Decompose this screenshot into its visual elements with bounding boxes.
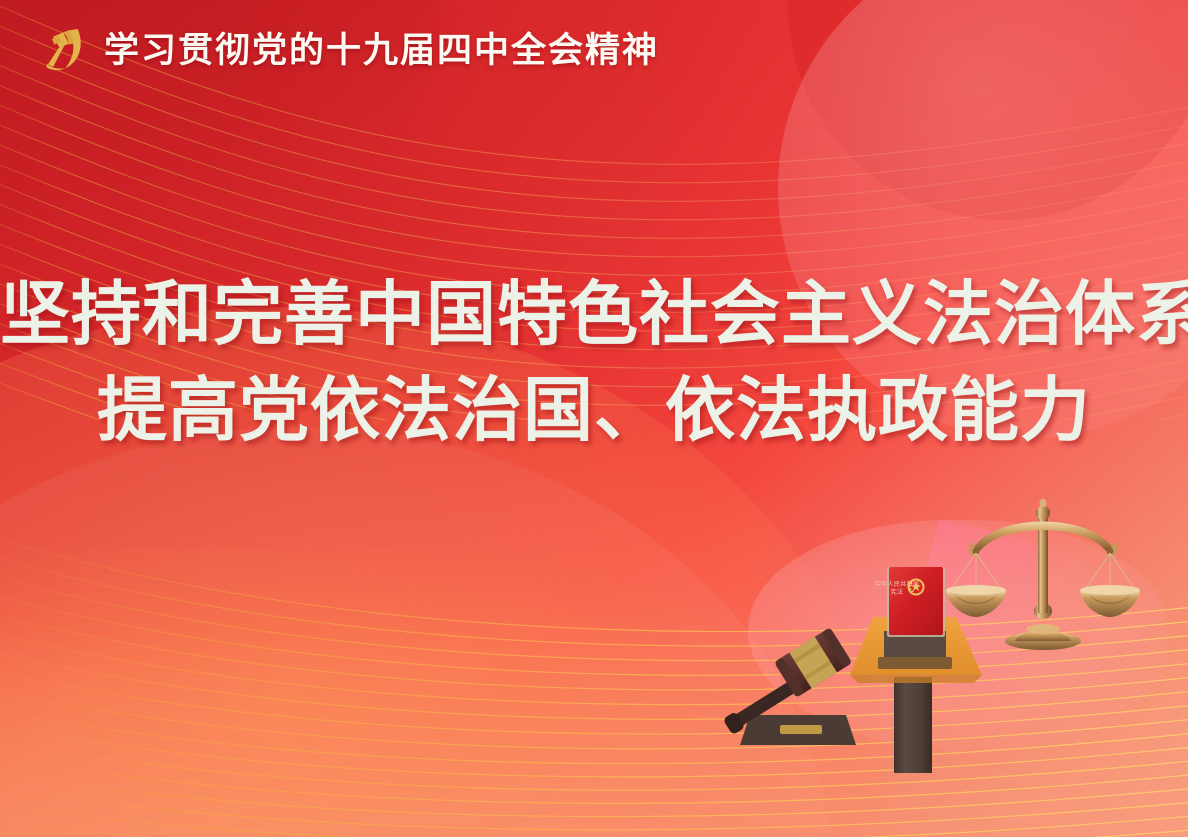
scales-of-justice [946, 499, 1140, 651]
podium-ledge [878, 657, 952, 669]
headline-block: 坚持和完善中国特色社会主义法治体系 提高党依法治国、依法执政能力 [0, 268, 1188, 460]
scales-pan-right [1080, 585, 1140, 617]
hammer-and-sickle-emblem [34, 20, 90, 76]
poster-canvas: 学习贯彻党的十九届四中全会精神 坚持和完善中国特色社会主义法治体系 提高党依法治… [0, 0, 1188, 837]
gavel-group [723, 627, 856, 745]
headline-line-1: 坚持和完善中国特色社会主义法治体系 [0, 268, 1188, 364]
headline-line-2: 提高党依法治国、依法执政能力 [0, 364, 1188, 460]
scales-pan-left [946, 585, 1006, 617]
header-title: 学习贯彻党的十九届四中全会精神 [104, 22, 659, 73]
header-bar: 学习贯彻党的十九届四中全会精神 [0, 0, 1188, 95]
rule-of-law-illustration: 中华人民共和国 宪法 [698, 489, 1168, 789]
constitution-book [887, 567, 945, 637]
sound-block [740, 715, 856, 745]
illustration-svg [698, 489, 1168, 789]
podium-column [894, 677, 932, 773]
podium-group [850, 617, 982, 773]
national-emblem [908, 579, 925, 596]
